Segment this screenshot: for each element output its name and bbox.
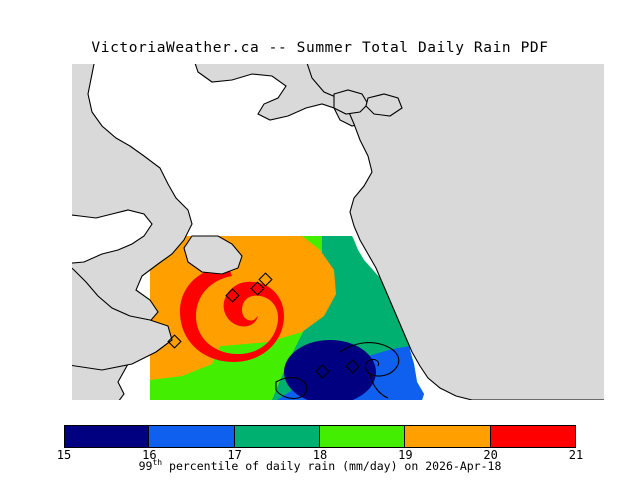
map-svg — [72, 64, 604, 400]
map-canvas[interactable] — [72, 64, 604, 400]
colorbar-band-17-18[interactable] — [235, 425, 320, 448]
caption-text: percentile of daily rain (mm/day) on 202… — [162, 459, 501, 473]
colorbar-band-15-16[interactable] — [64, 425, 149, 448]
colorbar-band-20-21[interactable] — [491, 425, 576, 448]
weather-map-page: VictoriaWeather.ca -- Summer Total Daily… — [0, 0, 640, 480]
page-title: VictoriaWeather.ca -- Summer Total Daily… — [0, 40, 640, 56]
colorbar-caption: 99th percentile of daily rain (mm/day) o… — [0, 458, 640, 473]
caption-number: 99 — [139, 459, 153, 473]
colorbar-band-19-20[interactable] — [405, 425, 490, 448]
caption-ordinal-suffix: th — [152, 458, 162, 467]
colorbar-band-18-19[interactable] — [320, 425, 405, 448]
colorbar-band-16-17[interactable] — [149, 425, 234, 448]
colorbar[interactable] — [64, 425, 576, 448]
